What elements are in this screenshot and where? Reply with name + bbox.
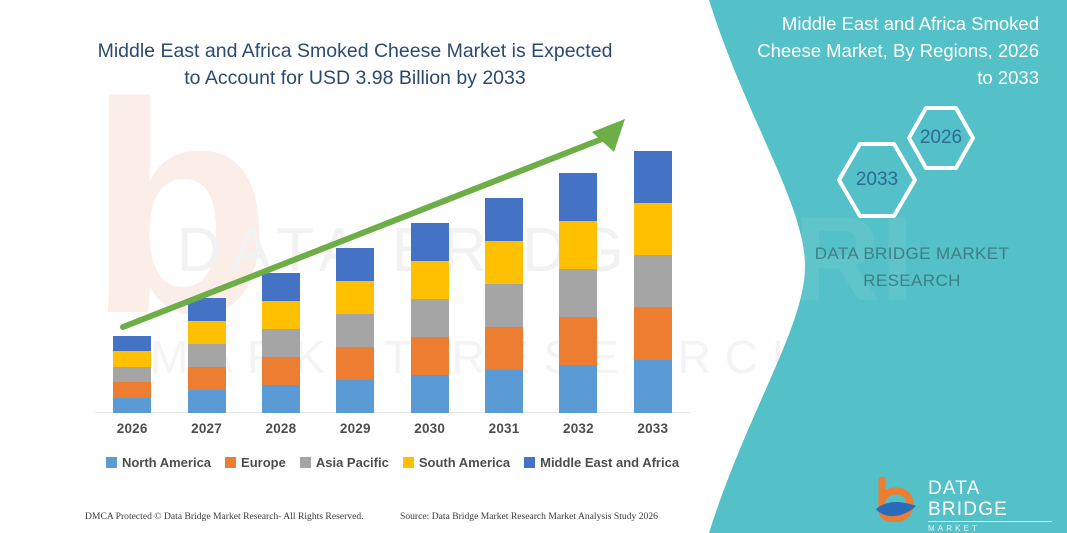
legend-label: South America <box>419 455 510 470</box>
chart-region: Middle East and Africa Smoked Cheese Mar… <box>0 0 712 500</box>
legend-label: Europe <box>241 455 286 470</box>
bar-segment <box>336 248 374 281</box>
bar-segment <box>336 281 374 314</box>
plot-area <box>95 110 690 413</box>
bar-segment <box>559 221 597 269</box>
legend-item[interactable]: Asia Pacific <box>300 455 389 470</box>
bar-segment <box>411 261 449 299</box>
bar-segment <box>262 301 300 329</box>
page-title: Middle East and Africa Smoked Cheese Mar… <box>95 38 615 92</box>
bar-segment <box>485 241 523 284</box>
bar-segment <box>262 385 300 413</box>
bar-segment <box>411 223 449 261</box>
x-axis-tick: 2029 <box>318 421 392 436</box>
bar-slot <box>318 110 392 413</box>
bar-segment <box>336 347 374 380</box>
legend-swatch-icon <box>106 457 117 468</box>
legend-swatch-icon <box>524 457 535 468</box>
bar-segment <box>485 284 523 327</box>
bar-slot <box>616 110 690 413</box>
bar-segment <box>485 370 523 413</box>
stacked-bar[interactable] <box>113 336 151 413</box>
legend-item[interactable]: South America <box>403 455 510 470</box>
x-axis-tick: 2028 <box>244 421 318 436</box>
x-axis-tick: 2027 <box>169 421 243 436</box>
bar-segment <box>188 367 226 390</box>
bar-segment <box>262 357 300 385</box>
legend-swatch-icon <box>225 457 236 468</box>
bar-segment <box>188 344 226 367</box>
brand-logo-tagline: MARKET RESEARCH <box>928 524 1052 533</box>
x-axis-tick: 2026 <box>95 421 169 436</box>
hexagon-badge-2026: 2026 <box>905 104 977 172</box>
stacked-bar[interactable] <box>188 298 226 413</box>
bar-segment <box>188 321 226 344</box>
legend-label: North America <box>122 455 211 470</box>
bar-segment <box>188 390 226 413</box>
bar-segment <box>411 375 449 413</box>
x-axis-labels: 20262027202820292030203120322033 <box>95 421 690 436</box>
bar-segment <box>113 351 151 367</box>
brand-logo: DATA BRIDGE MARKET RESEARCH <box>872 476 1052 522</box>
bar-segment <box>485 327 523 370</box>
legend-label: Middle East and Africa <box>540 455 679 470</box>
bar-segment <box>634 203 672 255</box>
stacked-bar[interactable] <box>411 223 449 413</box>
bar-segment <box>411 337 449 375</box>
bar-segment <box>411 299 449 337</box>
stacked-bar[interactable] <box>336 248 374 413</box>
stacked-bar[interactable] <box>262 273 300 413</box>
bar-segment <box>336 314 374 347</box>
bar-segment <box>336 380 374 413</box>
brand-logo-name: DATA BRIDGE <box>928 478 1052 520</box>
bar-slot <box>393 110 467 413</box>
x-axis-tick: 2032 <box>541 421 615 436</box>
bar-segment <box>559 317 597 365</box>
bar-segment <box>634 255 672 307</box>
side-panel-title: Middle East and Africa Smoked Cheese Mar… <box>749 10 1039 91</box>
brand-logo-text: DATA BRIDGE MARKET RESEARCH <box>928 478 1052 533</box>
bar-segment <box>262 273 300 301</box>
bar-segment <box>559 365 597 413</box>
stacked-bar[interactable] <box>634 151 672 413</box>
bar-slot <box>95 110 169 413</box>
infographic-canvas: b DATA BRIDGE MARKET RESEARCH Middle Eas… <box>0 0 1067 533</box>
bar-segment <box>188 298 226 321</box>
x-axis-tick: 2033 <box>616 421 690 436</box>
legend-item[interactable]: Middle East and Africa <box>524 455 679 470</box>
footer: DMCA Protected © Data Bridge Market Rese… <box>0 505 712 531</box>
stacked-bar[interactable] <box>485 198 523 413</box>
bar-segment <box>559 173 597 221</box>
legend-label: Asia Pacific <box>316 455 389 470</box>
chart-legend: North AmericaEuropeAsia PacificSouth Ame… <box>95 455 690 470</box>
legend-item[interactable]: North America <box>106 455 211 470</box>
bar-segment <box>113 367 151 382</box>
stacked-bar[interactable] <box>559 173 597 413</box>
legend-item[interactable]: Europe <box>225 455 286 470</box>
bar-segment <box>113 382 151 398</box>
bar-segment <box>634 307 672 360</box>
bar-segment <box>634 151 672 203</box>
brand-logo-divider <box>928 521 1052 522</box>
bar-segment <box>113 398 151 413</box>
bar-segment <box>262 329 300 357</box>
bar-slot <box>244 110 318 413</box>
data-bridge-logo-icon <box>872 476 922 522</box>
footer-source: Source: Data Bridge Market Research Mark… <box>400 511 658 522</box>
legend-swatch-icon <box>300 457 311 468</box>
footer-copyright: DMCA Protected © Data Bridge Market Rese… <box>85 511 364 522</box>
bar-slot <box>169 110 243 413</box>
bar-group <box>95 110 690 413</box>
bar-segment <box>559 269 597 317</box>
bar-slot <box>467 110 541 413</box>
hexagon-label: 2026 <box>905 104 977 172</box>
bar-segment <box>634 360 672 413</box>
bar-slot <box>541 110 615 413</box>
bar-segment <box>485 198 523 241</box>
x-axis-tick: 2030 <box>393 421 467 436</box>
x-axis-tick: 2031 <box>467 421 541 436</box>
side-panel-brand: DATA BRIDGE MARKET RESEARCH <box>787 240 1037 294</box>
bar-segment <box>113 336 151 351</box>
legend-swatch-icon <box>403 457 414 468</box>
